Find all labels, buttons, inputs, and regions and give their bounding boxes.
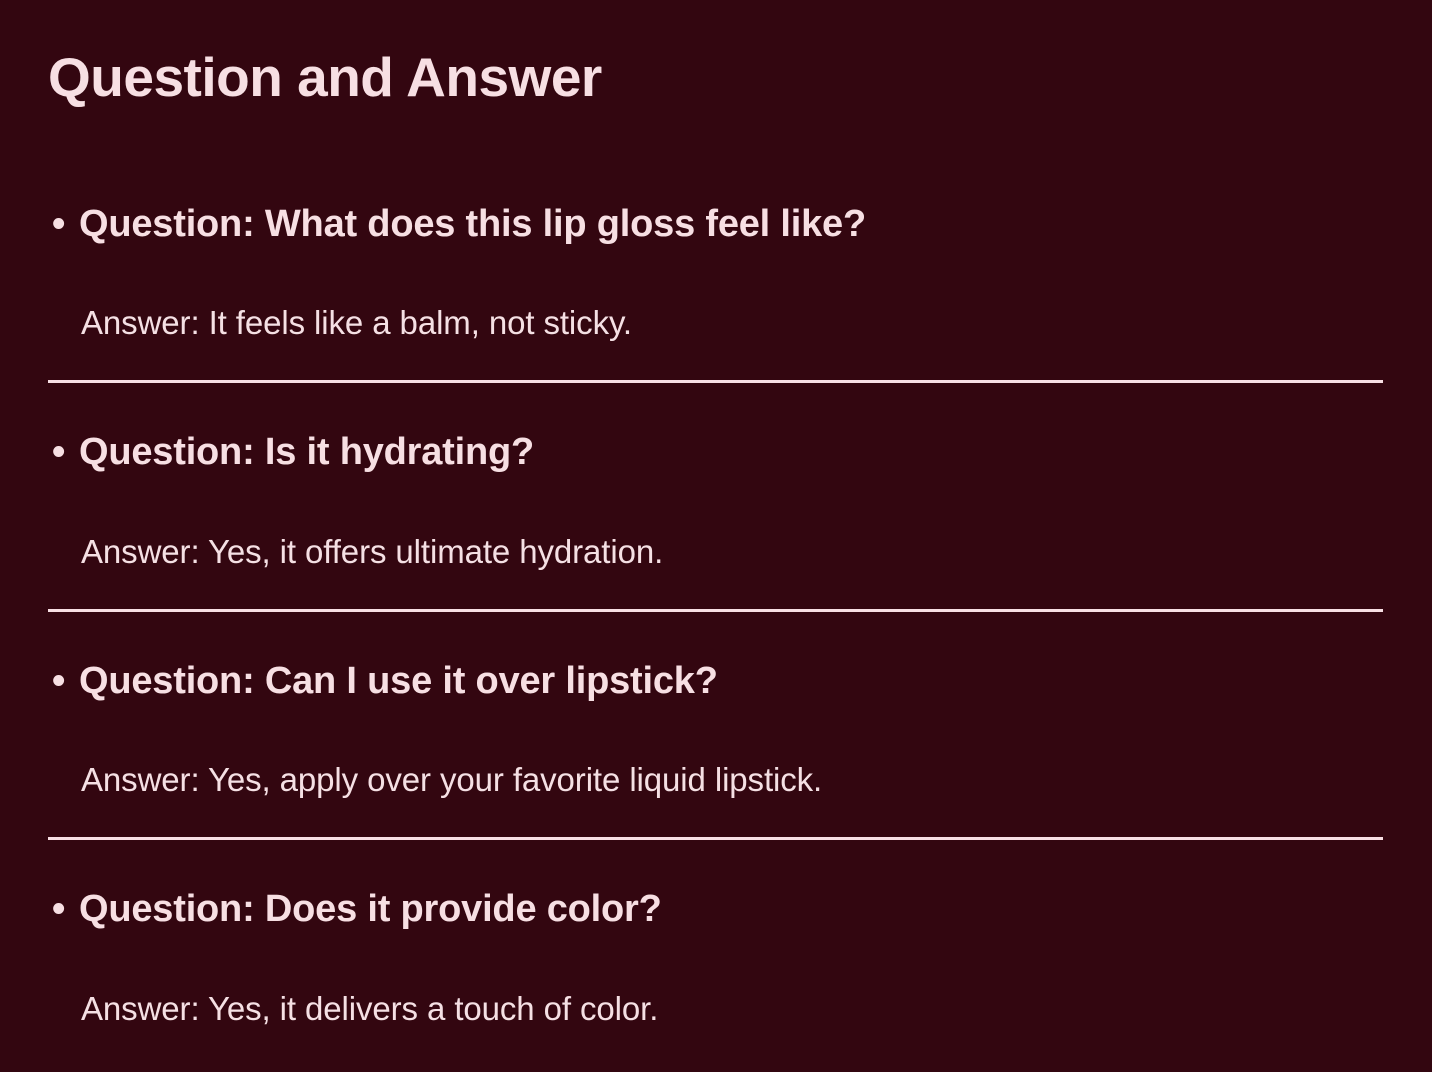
answer-text: Answer: It feels like a balm, not sticky… (48, 302, 1384, 345)
bullet-icon: • (48, 657, 79, 706)
qa-item: • Question: Can I use it over lipstick? … (0, 612, 1432, 841)
question-row: • Question: Does it provide color? (48, 885, 1384, 934)
spacer (48, 345, 1384, 380)
answer-text: Answer: Yes, apply over your favorite li… (48, 759, 1384, 802)
qa-item: • Question: Is it hydrating? Answer: Yes… (0, 383, 1432, 612)
question-text: Question: Can I use it over lipstick? (79, 657, 718, 706)
page-title: Question and Answer (0, 0, 1432, 108)
spacer (48, 574, 1384, 609)
question-row: • Question: What does this lip gloss fee… (48, 200, 1384, 249)
question-text: Question: Does it provide color? (79, 885, 662, 934)
spacer (48, 477, 1384, 531)
spacer (48, 705, 1384, 759)
spacer (48, 934, 1384, 988)
question-text: Question: Is it hydrating? (79, 428, 534, 477)
qa-item: • Question: What does this lip gloss fee… (0, 108, 1432, 384)
answer-text: Answer: Yes, it offers ultimate hydratio… (48, 531, 1384, 574)
bullet-icon: • (48, 428, 79, 477)
spacer (48, 248, 1384, 302)
question-row: • Question: Can I use it over lipstick? (48, 657, 1384, 706)
qa-list: • Question: What does this lip gloss fee… (0, 108, 1432, 1031)
question-row: • Question: Is it hydrating? (48, 428, 1384, 477)
bullet-icon: • (48, 885, 79, 934)
qa-page: Question and Answer • Question: What doe… (0, 0, 1432, 1072)
qa-item: • Question: Does it provide color? Answe… (0, 840, 1432, 1031)
spacer (48, 802, 1384, 837)
answer-text: Answer: Yes, it delivers a touch of colo… (48, 988, 1384, 1031)
bullet-icon: • (48, 200, 79, 249)
question-text: Question: What does this lip gloss feel … (79, 200, 866, 249)
